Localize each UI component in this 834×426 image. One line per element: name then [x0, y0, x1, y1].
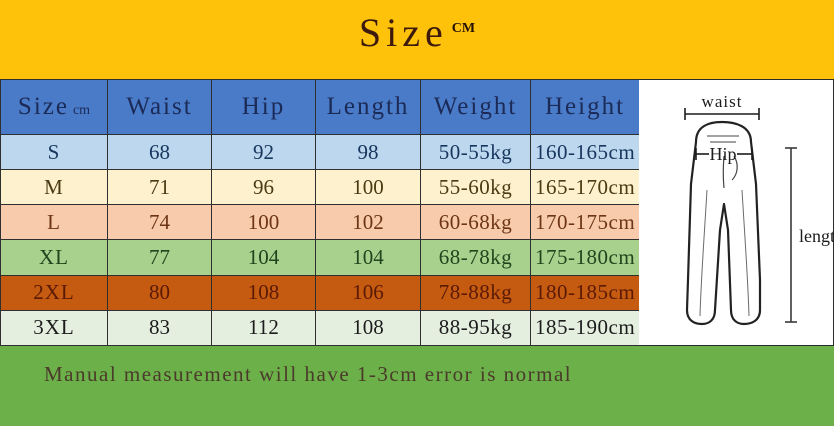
table-row: 2XL 80 108 106 78-88kg 180-185cm [1, 275, 640, 310]
length-label: length [799, 226, 834, 246]
cell-length: 100 [316, 170, 421, 205]
cell-weight: 78-88kg [421, 275, 531, 310]
cell-waist: 77 [108, 240, 212, 275]
cell-height: 175-180cm [531, 240, 640, 275]
cell-size: L [1, 205, 108, 240]
size-table: Sizecm Waist Hip Length Weight Height S … [0, 79, 640, 346]
column-header-weight: Weight [421, 80, 531, 135]
cell-height: 160-165cm [531, 135, 640, 170]
cell-length: 108 [316, 310, 421, 345]
cell-size: M [1, 170, 108, 205]
page-title: SizeCM [0, 4, 834, 58]
title-word: Size [359, 10, 448, 55]
measurement-note: Manual measurement will have 1-3cm error… [44, 362, 572, 387]
table-row: M 71 96 100 55-60kg 165-170cm [1, 170, 640, 205]
cell-waist: 68 [108, 135, 212, 170]
cell-weight: 88-95kg [421, 310, 531, 345]
size-table-container: Sizecm Waist Hip Length Weight Height S … [0, 79, 639, 346]
cell-waist: 83 [108, 310, 212, 345]
cell-height: 170-175cm [531, 205, 640, 240]
column-header-height: Height [531, 80, 640, 135]
cell-waist: 71 [108, 170, 212, 205]
footer-banner: Manual measurement will have 1-3cm error… [0, 346, 834, 426]
table-row: XL 77 104 104 68-78kg 175-180cm [1, 240, 640, 275]
cell-size: 3XL [1, 310, 108, 345]
title-unit-superscript: CM [452, 21, 475, 36]
column-header-size-label: Size [18, 93, 69, 120]
table-row: L 74 100 102 60-68kg 170-175cm [1, 205, 640, 240]
title-banner: SizeCM [0, 0, 834, 79]
column-header-hip: Hip [212, 80, 316, 135]
cell-size: XL [1, 240, 108, 275]
column-header-length: Length [316, 80, 421, 135]
waist-label: waist [702, 92, 743, 111]
cell-hip: 112 [212, 310, 316, 345]
cell-weight: 50-55kg [421, 135, 531, 170]
cell-hip: 100 [212, 205, 316, 240]
cell-length: 98 [316, 135, 421, 170]
table-header-row: Sizecm Waist Hip Length Weight Height [1, 80, 640, 135]
cell-height: 185-190cm [531, 310, 640, 345]
table-row: 3XL 83 112 108 88-95kg 185-190cm [1, 310, 640, 345]
cell-height: 165-170cm [531, 170, 640, 205]
cell-length: 104 [316, 240, 421, 275]
cell-hip: 108 [212, 275, 316, 310]
pants-diagram-icon: waist [639, 80, 834, 347]
cell-hip: 104 [212, 240, 316, 275]
cell-length: 102 [316, 205, 421, 240]
cell-length: 106 [316, 275, 421, 310]
size-chart-image: SizeCM Sizecm Waist Hip Length Weight He… [0, 0, 834, 426]
length-dimension-arrow [785, 148, 797, 322]
column-header-size: Sizecm [1, 80, 108, 135]
table-row: S 68 92 98 50-55kg 160-165cm [1, 135, 640, 170]
column-header-waist: Waist [108, 80, 212, 135]
hip-label: Hip [710, 144, 737, 164]
cell-size: S [1, 135, 108, 170]
column-header-size-unit: cm [73, 103, 90, 118]
cell-waist: 74 [108, 205, 212, 240]
cell-weight: 55-60kg [421, 170, 531, 205]
cell-weight: 60-68kg [421, 205, 531, 240]
cell-hip: 96 [212, 170, 316, 205]
measurement-diagram-panel: waist [639, 79, 834, 346]
footer-edge-strip [0, 418, 834, 426]
cell-hip: 92 [212, 135, 316, 170]
cell-height: 180-185cm [531, 275, 640, 310]
cell-waist: 80 [108, 275, 212, 310]
cell-size: 2XL [1, 275, 108, 310]
cell-weight: 68-78kg [421, 240, 531, 275]
